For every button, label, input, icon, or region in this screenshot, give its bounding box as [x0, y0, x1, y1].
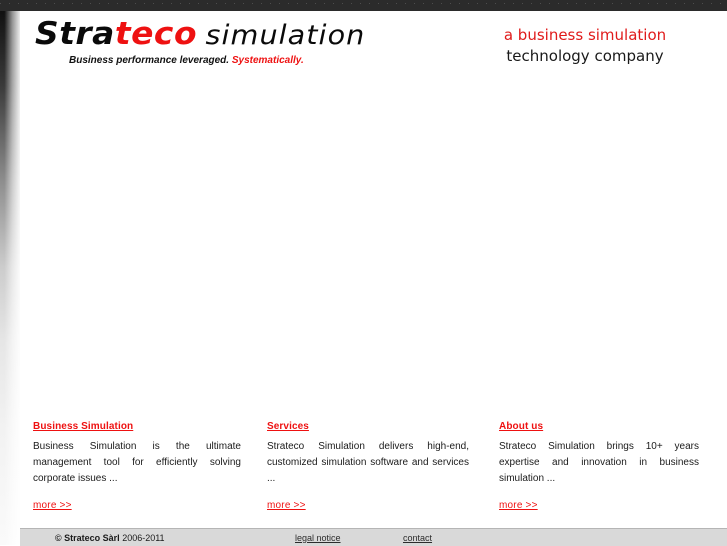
footer-link-contact[interactable]: contact: [403, 533, 432, 543]
teaser-title-link[interactable]: Services: [267, 421, 309, 432]
logo-text-simulation: simulation: [206, 20, 366, 51]
teaser-more-link[interactable]: more >>: [33, 500, 72, 511]
teaser-about-us: About us Strateco Simulation brings 10+ …: [499, 416, 699, 513]
left-shadow-fade-overlay: [0, 11, 20, 545]
footer-copyright-years: 2006-2011: [122, 533, 164, 543]
site-logo[interactable]: Stratecosimulation Business performance …: [35, 17, 347, 66]
claim-line-2: technology company: [460, 46, 710, 67]
content-canvas: Stratecosimulation Business performance …: [20, 11, 727, 528]
teaser-body-text: Strateco Simulation delivers high-end, c…: [267, 439, 469, 487]
teaser-more-link[interactable]: more >>: [267, 500, 306, 511]
tagline-accent: Systematically.: [232, 55, 304, 66]
teaser-columns: Business Simulation Business Simulation …: [20, 416, 727, 516]
logo-text-teco: teco: [115, 16, 197, 52]
teaser-title-link[interactable]: Business Simulation: [33, 421, 133, 432]
teaser-more-link[interactable]: more >>: [499, 500, 538, 511]
logo-wordmark: Stratecosimulation: [35, 17, 365, 53]
tagline-main: Business performance leveraged.: [69, 55, 229, 66]
logo-tagline: Business performance leveraged. Systemat…: [69, 55, 347, 66]
header-claim: a business simulation technology company: [460, 25, 710, 67]
teaser-business-simulation: Business Simulation Business Simulation …: [33, 416, 241, 513]
top-decorative-band: [0, 0, 727, 11]
teaser-title-link[interactable]: About us: [499, 421, 543, 432]
teaser-services: Services Strateco Simulation delivers hi…: [267, 416, 469, 513]
footer-link-legal-notice[interactable]: legal notice: [295, 533, 341, 543]
teaser-body-text: Strateco Simulation brings 10+ years exp…: [499, 439, 699, 487]
footer-copyright: © Strateco Sàrl 2006-2011: [55, 533, 165, 543]
claim-line-1: a business simulation: [460, 25, 710, 46]
page-footer: © Strateco Sàrl 2006-2011 legal notice c…: [20, 528, 727, 546]
teaser-body-text: Business Simulation is the ultimate mana…: [33, 439, 241, 487]
page-root: Stratecosimulation Business performance …: [0, 0, 727, 545]
footer-copyright-mark: © Strateco Sàrl: [55, 533, 120, 543]
logo-text-stra: Stra: [35, 16, 115, 52]
